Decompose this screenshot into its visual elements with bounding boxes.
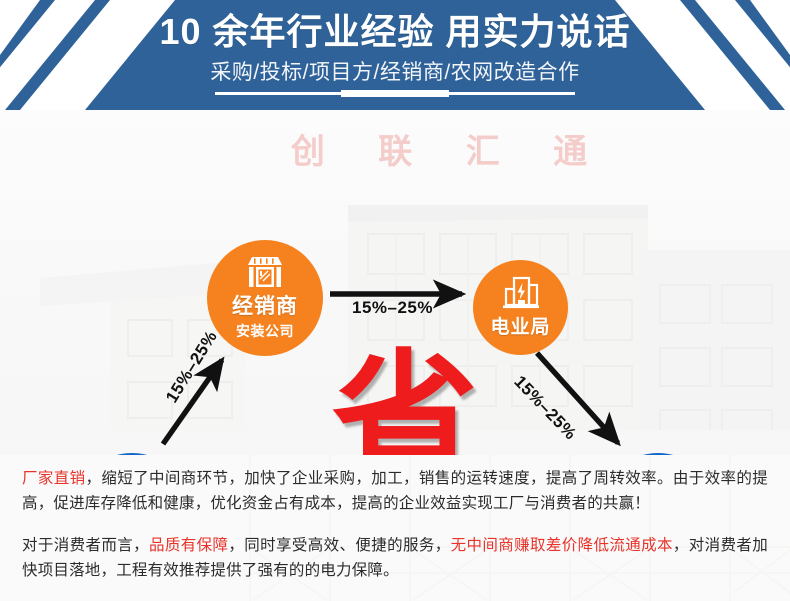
copy-paragraph-2: 对于消费者而言，品质有保障，同时享受高效、便捷的服务，无中间商赚取差价降低流通成…: [0, 516, 790, 583]
storefront-icon: [244, 255, 286, 289]
header-subtitle: 采购/投标/项目方/经销商/农网改造合作: [0, 52, 790, 86]
node-bureau[interactable]: 电业局: [473, 260, 568, 355]
bottom-copy-section: 厂家直销，缩短了中间商环节，加快了企业采购，加工，销售的运转速度，提高了周转效率…: [0, 455, 790, 601]
node-dealer-label: 经销商: [232, 290, 298, 320]
header-title: 10 余年行业经验 用实力说话: [0, 0, 790, 52]
copy-highlight-no-middleman: 无中间商赚取差价降低流通成本: [451, 537, 673, 554]
node-dealer[interactable]: 经销商 安装公司: [207, 240, 323, 356]
copy-paragraph-2-lead: 对于消费者而言，: [22, 537, 149, 554]
node-bureau-label: 电业局: [490, 312, 550, 339]
copy-highlight-quality: 品质有保障: [149, 537, 228, 554]
copy-highlight-manufacturer-direct: 厂家直销: [22, 470, 86, 487]
diagram-stage: 创 联 汇 通 省: [0, 110, 790, 455]
power-building-icon: [501, 276, 541, 310]
edge-label-dealer-to-bureau: 15%–25%: [352, 298, 433, 318]
copy-paragraph-1-rest: ，缩短了中间商环节，加快了企业采购，加工，销售的运转速度，提高了周转效率。由于效…: [22, 470, 768, 512]
copy-paragraph-1: 厂家直销，缩短了中间商环节，加快了企业采购，加工，销售的运转速度，提高了周转效率…: [0, 455, 790, 516]
copy-paragraph-2-middle: ，同时享受高效、便捷的服务，: [228, 537, 450, 554]
node-dealer-sublabel: 安装公司: [236, 321, 294, 341]
poster-root: 10 余年行业经验 用实力说话 采购/投标/项目方/经销商/农网改造合作: [0, 0, 790, 601]
header-banner: 10 余年行业经验 用实力说话 采购/投标/项目方/经销商/农网改造合作: [0, 0, 790, 110]
flow-arrows: [0, 110, 790, 455]
